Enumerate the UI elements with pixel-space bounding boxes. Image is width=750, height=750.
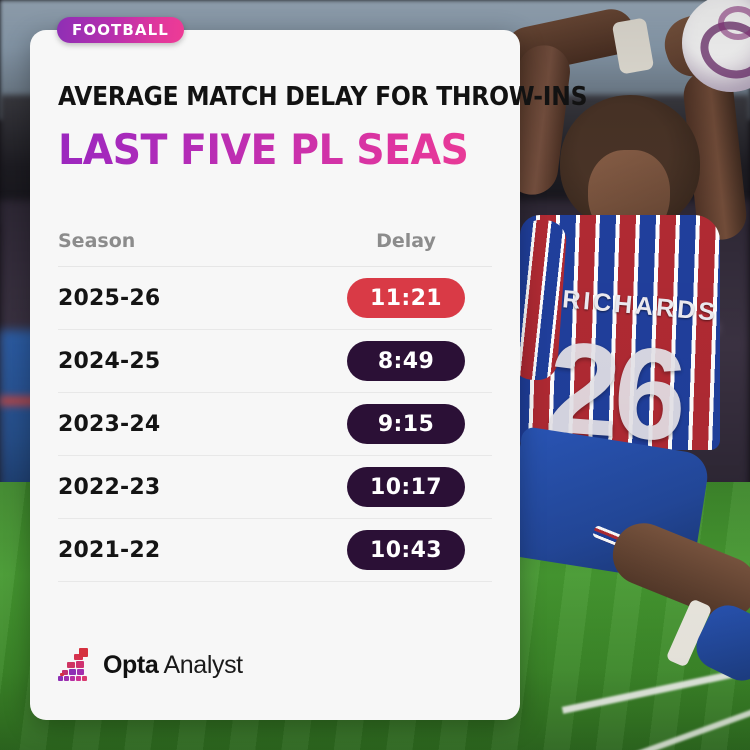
page-title: AVERAGE MATCH DELAY FOR THROW-INS	[58, 82, 457, 112]
delay-pill: 10:43	[347, 530, 465, 570]
column-header-delay: Delay	[320, 230, 492, 252]
table-row: 2022-23 10:17	[58, 456, 492, 519]
brand-opta: Opta	[103, 651, 158, 679]
opta-staircase-icon	[58, 648, 92, 682]
cell-delay: 9:15	[320, 404, 492, 444]
delay-pill-highlight: 11:21	[347, 278, 465, 318]
footer-branding: Opta Analyst	[58, 648, 492, 720]
opta-analyst-wordmark: Opta Analyst	[103, 651, 243, 680]
table-row: 2024-25 8:49	[58, 330, 492, 393]
delay-pill: 10:17	[347, 467, 465, 507]
cell-season: 2023-24	[58, 412, 320, 437]
brand-analyst-text: Analyst	[164, 651, 243, 679]
column-header-season: Season	[58, 230, 320, 252]
category-badge[interactable]: FOOTBALL	[57, 17, 184, 43]
delay-table: Season Delay 2025-26 11:21 2024-25 8:49 …	[58, 230, 492, 582]
table-header-row: Season Delay	[58, 230, 492, 267]
table-row: 2023-24 9:15	[58, 393, 492, 456]
heading-block: AVERAGE MATCH DELAY FOR THROW-INS LAST F…	[58, 30, 492, 174]
stat-card: AVERAGE MATCH DELAY FOR THROW-INS LAST F…	[30, 30, 520, 720]
cell-delay: 10:17	[320, 467, 492, 507]
table-row: 2021-22 10:43	[58, 519, 492, 582]
delay-pill: 8:49	[347, 341, 465, 381]
infographic-canvas: 26 RICHARDS FOOTBALL AVERAGE MATCH DELAY…	[0, 0, 750, 750]
cell-delay: 10:43	[320, 530, 492, 570]
cell-season: 2024-25	[58, 349, 320, 374]
delay-pill: 9:15	[347, 404, 465, 444]
page-subtitle: LAST FIVE PL SEASONS	[58, 125, 466, 174]
cell-season: 2025-26	[58, 286, 320, 311]
table-row: 2025-26 11:21	[58, 267, 492, 330]
cell-season: 2021-22	[58, 538, 320, 563]
cell-delay: 8:49	[320, 341, 492, 381]
cell-season: 2022-23	[58, 475, 320, 500]
cell-delay: 11:21	[320, 278, 492, 318]
